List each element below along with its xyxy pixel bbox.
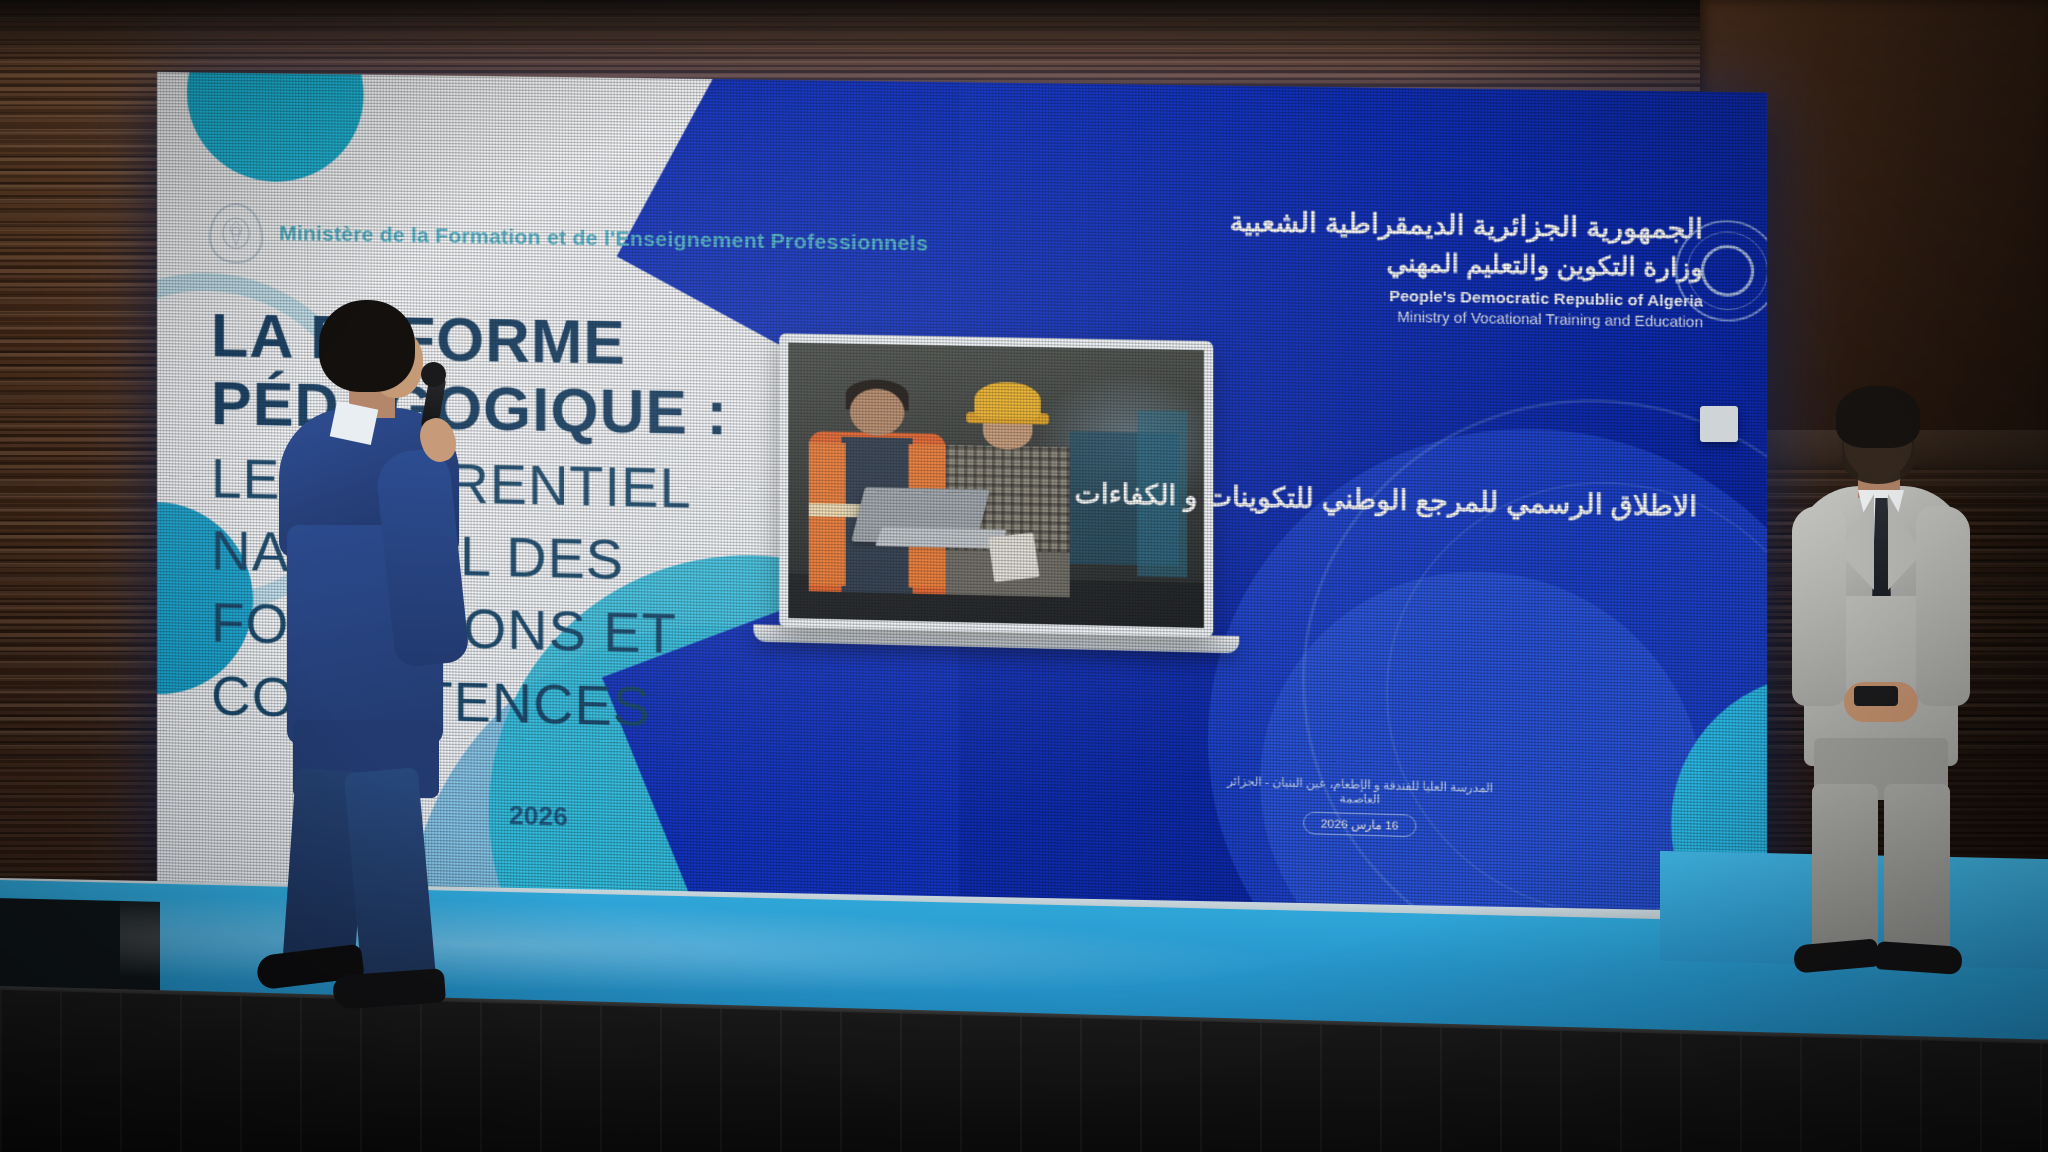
attendee-hair bbox=[1836, 386, 1920, 448]
event-headline-arabic: الاطلاق الرسمي للمرجع الوطني للتكوينات و… bbox=[1060, 473, 1711, 528]
attendee-arm-right bbox=[1916, 506, 1970, 706]
microphone-head-icon bbox=[421, 362, 446, 387]
slide-right-blue-panel: الجمهورية الجزائرية الديمقراطية الشعبية … bbox=[938, 82, 1767, 938]
decorative-dot-top bbox=[187, 72, 364, 183]
ministry-name-label: Ministère de la Formation et de l'Enseig… bbox=[279, 222, 928, 257]
arabic-country-name: الجمهورية الجزائرية الديمقراطية الشعبية bbox=[1114, 205, 1703, 246]
event-venue-badge: المدرسة العليا للفندقة و الإطعام، عين ال… bbox=[1218, 773, 1501, 839]
attendee-leg-right bbox=[1884, 784, 1950, 954]
presenter-hair bbox=[319, 300, 415, 392]
attendee-shoe-right bbox=[1875, 941, 1963, 975]
attendee-leg-left bbox=[1812, 784, 1878, 954]
photo-worker-vest-head bbox=[850, 388, 904, 436]
state-emblem-icon bbox=[209, 203, 263, 264]
ministry-header-row: Ministère de la Formation et de l'Enseig… bbox=[209, 203, 928, 275]
slide-year-label: 2026 bbox=[509, 800, 568, 833]
attendee-arm-left bbox=[1792, 506, 1846, 706]
held-phone-icon bbox=[1854, 686, 1898, 706]
government-header-block: الجمهورية الجزائرية الديمقراطية الشعبية … bbox=[1114, 205, 1703, 332]
venue-location-label: المدرسة العليا للفندقة و الإطعام، عين ال… bbox=[1218, 773, 1501, 809]
presenter-figure bbox=[275, 300, 465, 960]
screenshot-root: Ministère de la Formation et de l'Enseig… bbox=[0, 0, 2048, 1152]
side-equipment-box bbox=[1700, 406, 1738, 442]
arabic-ministry-name: وزارة التكوين والتعليم المهني bbox=[1114, 243, 1703, 283]
attendee-figure bbox=[1792, 386, 1970, 946]
event-date-label: 16 مارس 2026 bbox=[1303, 812, 1416, 838]
